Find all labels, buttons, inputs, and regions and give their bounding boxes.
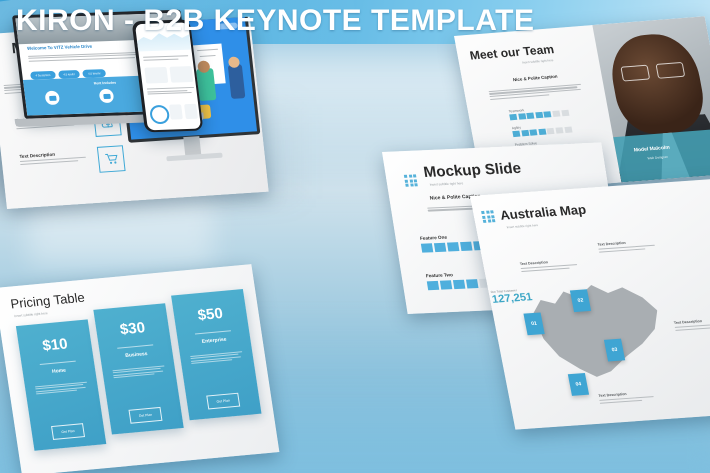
- plan-description: [112, 363, 166, 380]
- feature-block-2[interactable]: Text Description: [19, 150, 86, 166]
- plan-description: [35, 380, 89, 397]
- map-marker-04[interactable]: 04: [568, 373, 589, 396]
- dashboard-row: [146, 85, 197, 96]
- illustration-person-3: [228, 64, 246, 99]
- slide-title: Pricing Table: [9, 290, 85, 312]
- poster-stage: KIRON - B2B KEYNOTE TEMPLATE Mockup Slid…: [0, 0, 710, 473]
- dashboard-card: [169, 66, 193, 83]
- feature-icon-1: [44, 91, 60, 105]
- dashboard-card: [184, 103, 198, 118]
- total-customer-stat: Our Total Customer 127,251: [490, 287, 533, 306]
- progress-ring-icon: [148, 104, 169, 124]
- plan-name: Home: [23, 365, 96, 378]
- page-title: KIRON - B2B KEYNOTE TEMPLATE: [16, 4, 534, 38]
- stat-value: 127,251: [491, 291, 533, 306]
- slide-title: Australia Map: [499, 202, 588, 223]
- web-paragraph: [28, 50, 150, 64]
- slide-subtitle: Insert subtitle right here: [506, 223, 538, 229]
- plan-cta-button[interactable]: Get Plan: [128, 407, 162, 424]
- plan-cta-button[interactable]: Get Plan: [51, 423, 85, 440]
- body-paragraph: [488, 82, 583, 102]
- section-title: Rent Includes: [94, 81, 117, 86]
- slide-subtitle: Insert subtitle right here: [429, 181, 463, 186]
- map-callout-2: Text Description: [597, 239, 659, 254]
- decorative-dots-icon: [481, 210, 496, 223]
- skill-row: Agility: [511, 118, 623, 137]
- dashboard-card: [168, 104, 182, 119]
- plan-name: Enterprise: [178, 334, 251, 347]
- callout-title: Text Description: [674, 317, 710, 325]
- plan-price: $50: [173, 303, 247, 326]
- team-member-photo: Model Malcolm Web Designer: [592, 16, 710, 182]
- slide-pricing-table[interactable]: Pricing Table Insert subtitle right here…: [0, 264, 279, 473]
- dashboard-card: [144, 66, 168, 83]
- plan-description: [190, 349, 244, 366]
- plan-card-home[interactable]: $10 Home Get Plan: [16, 319, 106, 450]
- plan-card-enterprise[interactable]: $50 Enterprise Get Plan: [171, 289, 261, 420]
- slide-subtitle: Insert subtitle right here: [522, 58, 554, 64]
- member-name: Model Malcolm: [633, 145, 670, 154]
- map-callout-4: Text Description: [598, 390, 660, 405]
- map-callout-1: Text Description: [520, 258, 582, 273]
- skill-row: Teamwork: [508, 101, 620, 120]
- member-role: Web Designer: [647, 155, 668, 161]
- slide-caption: Nice & Polite Caption: [513, 74, 558, 82]
- plan-name: Business: [100, 349, 173, 362]
- web-headline: Welcome To VITZ Vehicle Drive: [27, 44, 93, 51]
- monitor-base: [166, 153, 222, 162]
- plan-price: $10: [18, 333, 92, 356]
- plan-price: $30: [95, 317, 169, 340]
- shopping-cart-icon: [97, 145, 126, 173]
- plan-card-business[interactable]: $30 Business Get Plan: [93, 303, 183, 434]
- phone-screen: [134, 22, 200, 130]
- slide-title: Mockup Slide: [422, 160, 522, 181]
- map-callout-3: Text Description: [674, 317, 710, 332]
- slide-subtitle: Insert subtitle right here: [14, 311, 48, 318]
- feature-icon-2: [99, 89, 115, 103]
- name-plate: Model Malcolm Web Designer: [613, 128, 710, 182]
- decorative-dots-icon: [404, 174, 418, 187]
- dashboard-row: [142, 54, 193, 62]
- face-shape: [605, 31, 709, 136]
- pricing-plans: $10 Home Get Plan $30 Business Get Plan: [16, 305, 264, 451]
- plan-cta-button[interactable]: Get Plan: [206, 393, 240, 410]
